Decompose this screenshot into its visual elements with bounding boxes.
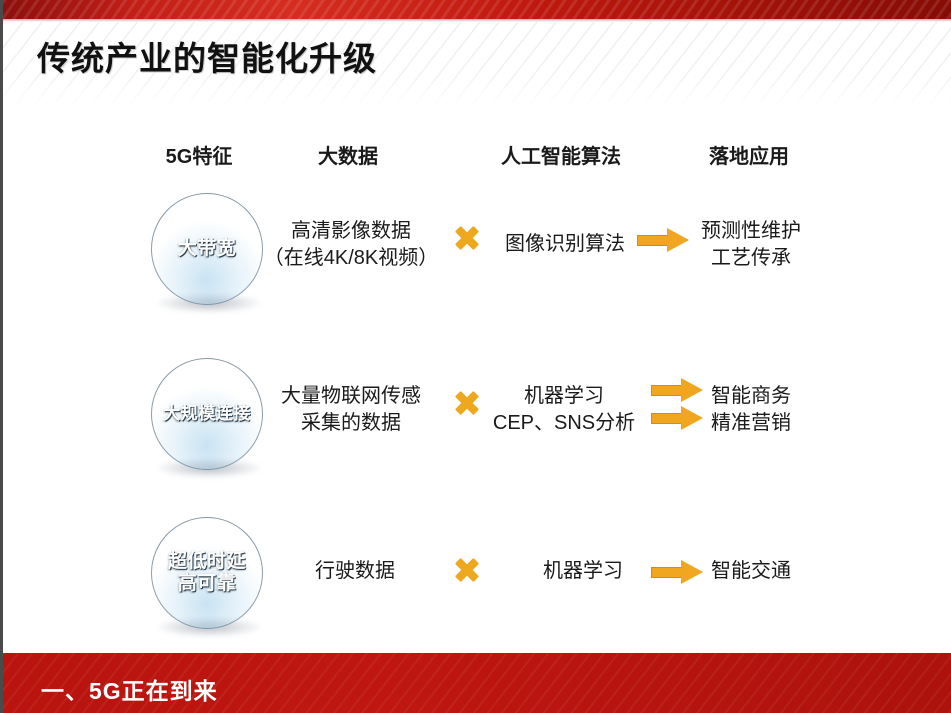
column-header-ai-algorithm: 人工智能算法 xyxy=(501,140,621,169)
bigdata-line-2: （在线4K/8K视频） xyxy=(264,245,438,272)
application-line-2: 精准营销 xyxy=(711,410,791,437)
sphere-label-line: 超低时延 xyxy=(168,551,246,573)
algorithm-cell-row-2: 机器学习 CEP、SNS分析 xyxy=(493,383,635,437)
arrow-right-icon xyxy=(651,406,703,430)
matrix-row-1: 大带宽 高清影像数据 （在线4K/8K视频） 图像识别算法 预测性维护 工艺传承 xyxy=(3,188,951,308)
sphere-label-line: 大带宽 xyxy=(178,238,237,260)
bigdata-line-1: 高清影像数据 xyxy=(264,218,438,245)
algorithm-cell-row-1: 图像识别算法 xyxy=(505,231,625,258)
feature-sphere-ultra-low-latency: 超低时延 高可靠 xyxy=(151,517,269,635)
bigdata-line-2: 采集的数据 xyxy=(281,410,421,437)
multiply-icon xyxy=(454,225,480,251)
feature-sphere-massive-connections: 大规模连接 xyxy=(151,358,269,476)
bigdata-cell-row-1: 高清影像数据 （在线4K/8K视频） xyxy=(264,218,438,272)
slide-canvas: 传统产业的智能化升级 5G特征 大数据 人工智能算法 落地应用 大带宽 高清影像… xyxy=(0,0,951,713)
bigdata-line-1: 行驶数据 xyxy=(315,558,395,585)
algorithm-line-1: 机器学习 xyxy=(543,558,623,585)
algorithm-line-2: CEP、SNS分析 xyxy=(493,410,635,437)
application-line-1: 智能交通 xyxy=(711,558,791,585)
arrow-right-icon xyxy=(637,228,689,252)
feature-sphere-large-bandwidth: 大带宽 xyxy=(151,193,269,311)
page-title: 传统产业的智能化升级 xyxy=(37,32,377,80)
bigdata-line-1: 大量物联网传感 xyxy=(281,383,421,410)
multiply-icon xyxy=(454,390,480,416)
multiply-icon xyxy=(454,557,480,583)
application-cell-row-1: 预测性维护 工艺传承 xyxy=(701,218,801,272)
bigdata-cell-row-3: 行驶数据 xyxy=(315,558,395,585)
sphere-label-line: 高可靠 xyxy=(178,573,237,595)
column-header-applications: 落地应用 xyxy=(709,140,789,169)
arrow-right-icon xyxy=(651,560,703,584)
sphere-label-group: 大带宽 xyxy=(151,193,263,305)
matrix-row-3: 超低时延 高可靠 行驶数据 机器学习 智能交通 xyxy=(3,515,951,635)
matrix-row-2: 大规模连接 大量物联网传感 采集的数据 机器学习 CEP、SNS分析 智能商务 … xyxy=(3,355,951,475)
arrow-right-icon xyxy=(651,378,703,402)
application-cell-row-2: 智能商务 精准营销 xyxy=(711,383,791,437)
algorithm-line-1: 机器学习 xyxy=(493,383,635,410)
algorithm-line-1: 图像识别算法 xyxy=(505,231,625,258)
bigdata-cell-row-2: 大量物联网传感 采集的数据 xyxy=(281,383,421,437)
sphere-label-line: 大规模连接 xyxy=(163,404,251,424)
top-accent-bar xyxy=(3,0,951,19)
footer-section-label: 一、5G正在到来 xyxy=(41,672,218,706)
sphere-label-group: 大规模连接 xyxy=(151,358,263,470)
application-line-1: 预测性维护 xyxy=(701,218,801,245)
column-header-5g-features: 5G特征 xyxy=(166,140,233,169)
application-cell-row-3: 智能交通 xyxy=(711,558,791,585)
column-header-big-data: 大数据 xyxy=(318,140,378,169)
application-line-1: 智能商务 xyxy=(711,383,791,410)
algorithm-cell-row-3: 机器学习 xyxy=(543,558,623,585)
application-line-2: 工艺传承 xyxy=(701,245,801,272)
sphere-label-group: 超低时延 高可靠 xyxy=(151,517,263,629)
